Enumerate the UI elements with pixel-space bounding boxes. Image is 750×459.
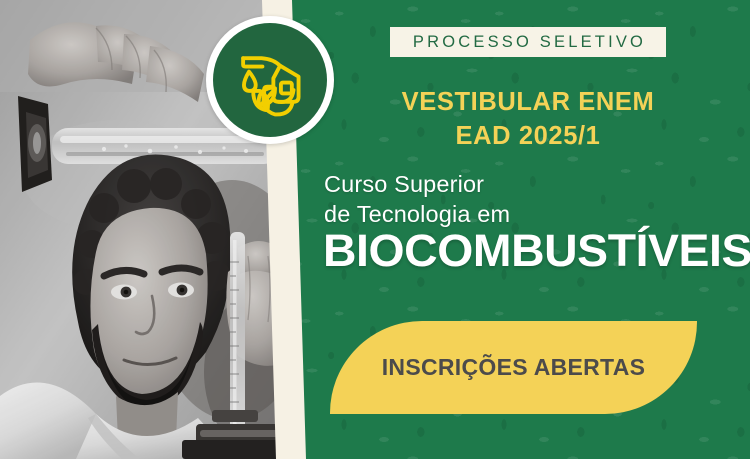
kicker-line-2: EAD 2025/1 <box>306 120 750 154</box>
course-promo-banner: PROCESSO SELETIVO VESTIBULAR ENEM EAD 20… <box>0 0 750 459</box>
processo-seletivo-badge: PROCESSO SELETIVO <box>390 27 666 57</box>
course-title: BIOCOMBUSTÍVEIS <box>323 228 750 273</box>
inscricoes-abertas-button[interactable]: INSCRIÇÕES ABERTAS <box>330 321 697 414</box>
emblem-inner-circle <box>213 23 327 137</box>
biofuel-emblem-badge <box>206 16 334 144</box>
kicker-line-1: VESTIBULAR ENEM <box>306 86 750 120</box>
course-subtitle-line-1: Curso Superior <box>324 170 744 200</box>
eyebrow-wrapper: PROCESSO SELETIVO <box>306 27 750 57</box>
banner-content: PROCESSO SELETIVO VESTIBULAR ENEM EAD 20… <box>306 0 750 459</box>
course-subtitle: Curso Superior de Tecnologia em <box>324 170 744 230</box>
fuel-nozzle-leaf-droplet-icon <box>228 38 312 122</box>
exam-kicker: VESTIBULAR ENEM EAD 2025/1 <box>306 86 750 153</box>
